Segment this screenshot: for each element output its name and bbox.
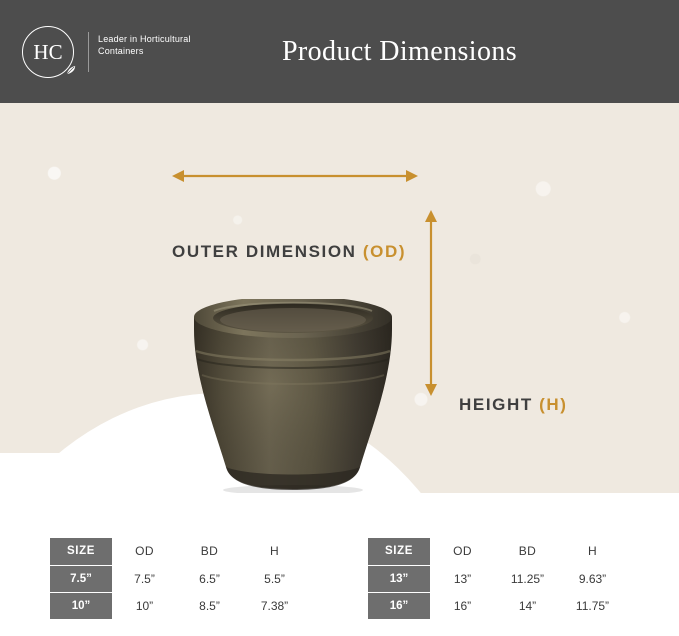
cell-bd: 8.5” <box>177 592 242 619</box>
cell-size: 7.5” <box>50 565 112 592</box>
header-bd: BD <box>177 538 242 565</box>
header-od: OD <box>112 538 177 565</box>
dimension-tables: SIZE OD BD H 7.5” 7.5” 6.5” 5.5” 10” 10”… <box>0 493 679 636</box>
cell-size: 13” <box>368 565 430 592</box>
height-abbr: (H) <box>539 395 567 414</box>
cell-od: 10” <box>112 592 177 619</box>
height-arrow <box>420 208 442 398</box>
header-h: H <box>242 538 307 565</box>
header-size: SIZE <box>368 538 430 565</box>
outer-dimension-label: OUTER DIMENSION (OD) <box>172 242 406 262</box>
cell-h: 9.63” <box>560 565 625 592</box>
diagram-area: OUTER DIMENSION (OD) HEIGHT (H) BASE DIM… <box>0 103 679 493</box>
outer-dimension-text: OUTER DIMENSION <box>172 242 363 261</box>
header-od: OD <box>430 538 495 565</box>
cell-size: 10” <box>50 592 112 619</box>
cell-od: 13” <box>430 565 495 592</box>
cell-h: 11.75” <box>560 592 625 619</box>
outer-dimension-abbr: (OD) <box>363 242 406 261</box>
outer-dimension-arrow <box>170 165 420 187</box>
table-header-row: SIZE OD BD H <box>50 538 307 565</box>
cell-h: 7.38” <box>242 592 307 619</box>
table-row: 13” 13” 11.25” 9.63” <box>368 565 625 592</box>
cell-bd: 14” <box>495 592 560 619</box>
header-bd: BD <box>495 538 560 565</box>
table-row: 16” 16” 14” 11.75” <box>368 592 625 619</box>
planter-pot-svg <box>178 299 408 493</box>
table-row: 7.5” 7.5” 6.5” 5.5” <box>50 565 307 592</box>
height-text: HEIGHT <box>459 395 539 414</box>
cell-size: 16” <box>368 592 430 619</box>
page-title: Product Dimensions <box>0 0 679 103</box>
cell-bd: 11.25” <box>495 565 560 592</box>
background-curve-fill <box>0 453 80 493</box>
cell-bd: 6.5” <box>177 565 242 592</box>
table-header-row: SIZE OD BD H <box>368 538 625 565</box>
header-h: H <box>560 538 625 565</box>
height-label: HEIGHT (H) <box>459 395 568 415</box>
dimension-table-left: SIZE OD BD H 7.5” 7.5” 6.5” 5.5” 10” 10”… <box>50 538 307 619</box>
page-header: HC Leader in Horticultural Containers Pr… <box>0 0 679 103</box>
header-size: SIZE <box>50 538 112 565</box>
cell-od: 16” <box>430 592 495 619</box>
planter-pot-image <box>178 299 408 493</box>
cell-od: 7.5” <box>112 565 177 592</box>
table-row: 10” 10” 8.5” 7.38” <box>50 592 307 619</box>
cell-h: 5.5” <box>242 565 307 592</box>
dimension-table-right: SIZE OD BD H 13” 13” 11.25” 9.63” 16” 16… <box>368 538 625 619</box>
